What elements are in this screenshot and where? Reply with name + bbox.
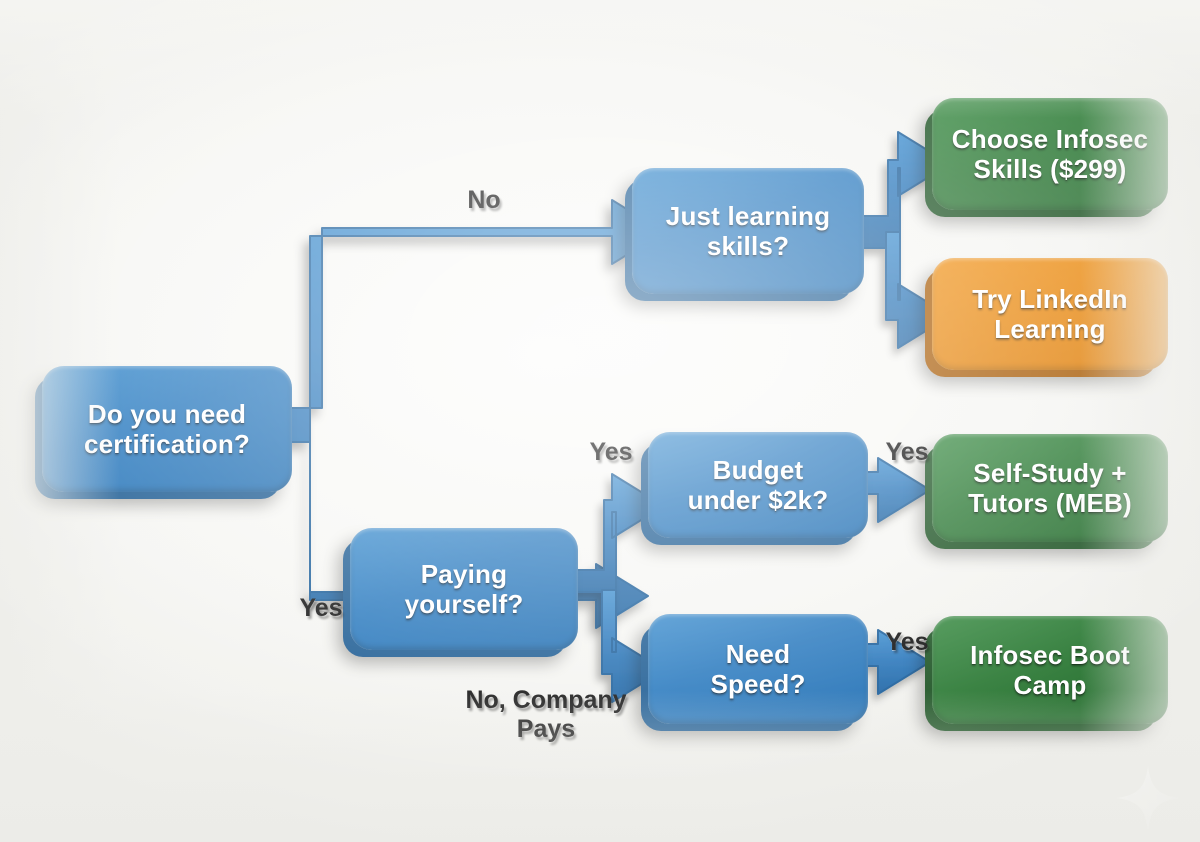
node-label: Just learning skills? — [666, 201, 830, 261]
sparkle-star-icon — [1112, 762, 1184, 834]
node-infosec-boot-camp[interactable]: Infosec Boot Camp — [932, 616, 1168, 724]
node-label: Choose Infosec Skills ($299) — [952, 124, 1148, 184]
node-self-study-tutors[interactable]: Self-Study + Tutors (MEB) — [932, 434, 1168, 542]
node-need-speed[interactable]: Need Speed? — [648, 614, 868, 724]
edge-label-no-top: No — [444, 186, 524, 215]
edge-budget-selfstudy — [866, 458, 930, 522]
node-label: Self-Study + Tutors (MEB) — [968, 458, 1132, 518]
node-choose-infosec-skills[interactable]: Choose Infosec Skills ($299) — [932, 98, 1168, 210]
flowchart-canvas: Do you need certification? Just learning… — [0, 0, 1200, 842]
edge-label-yes-budget: Yes — [576, 438, 646, 467]
edge-label-yes-selfstudy: Yes — [872, 438, 942, 467]
node-label: Infosec Boot Camp — [970, 640, 1130, 700]
node-label: Need Speed? — [710, 639, 805, 699]
node-try-linkedin-learning[interactable]: Try LinkedIn Learning — [932, 258, 1168, 370]
edge-label-yes-paying: Yes — [286, 594, 356, 623]
edge-label-yes-bootcamp: Yes — [872, 628, 942, 657]
node-label: Paying yourself? — [405, 559, 524, 619]
node-need-certification[interactable]: Do you need certification? — [42, 366, 292, 492]
node-label: Budget under $2k? — [688, 455, 829, 515]
node-paying-yourself[interactable]: Paying yourself? — [350, 528, 578, 650]
edge-label-no-company-pays: No, Company Pays — [446, 686, 646, 744]
node-budget-under-2k[interactable]: Budget under $2k? — [648, 432, 868, 538]
node-label: Do you need certification? — [84, 399, 250, 459]
node-just-learning-skills[interactable]: Just learning skills? — [632, 168, 864, 294]
node-label: Try LinkedIn Learning — [972, 284, 1128, 344]
